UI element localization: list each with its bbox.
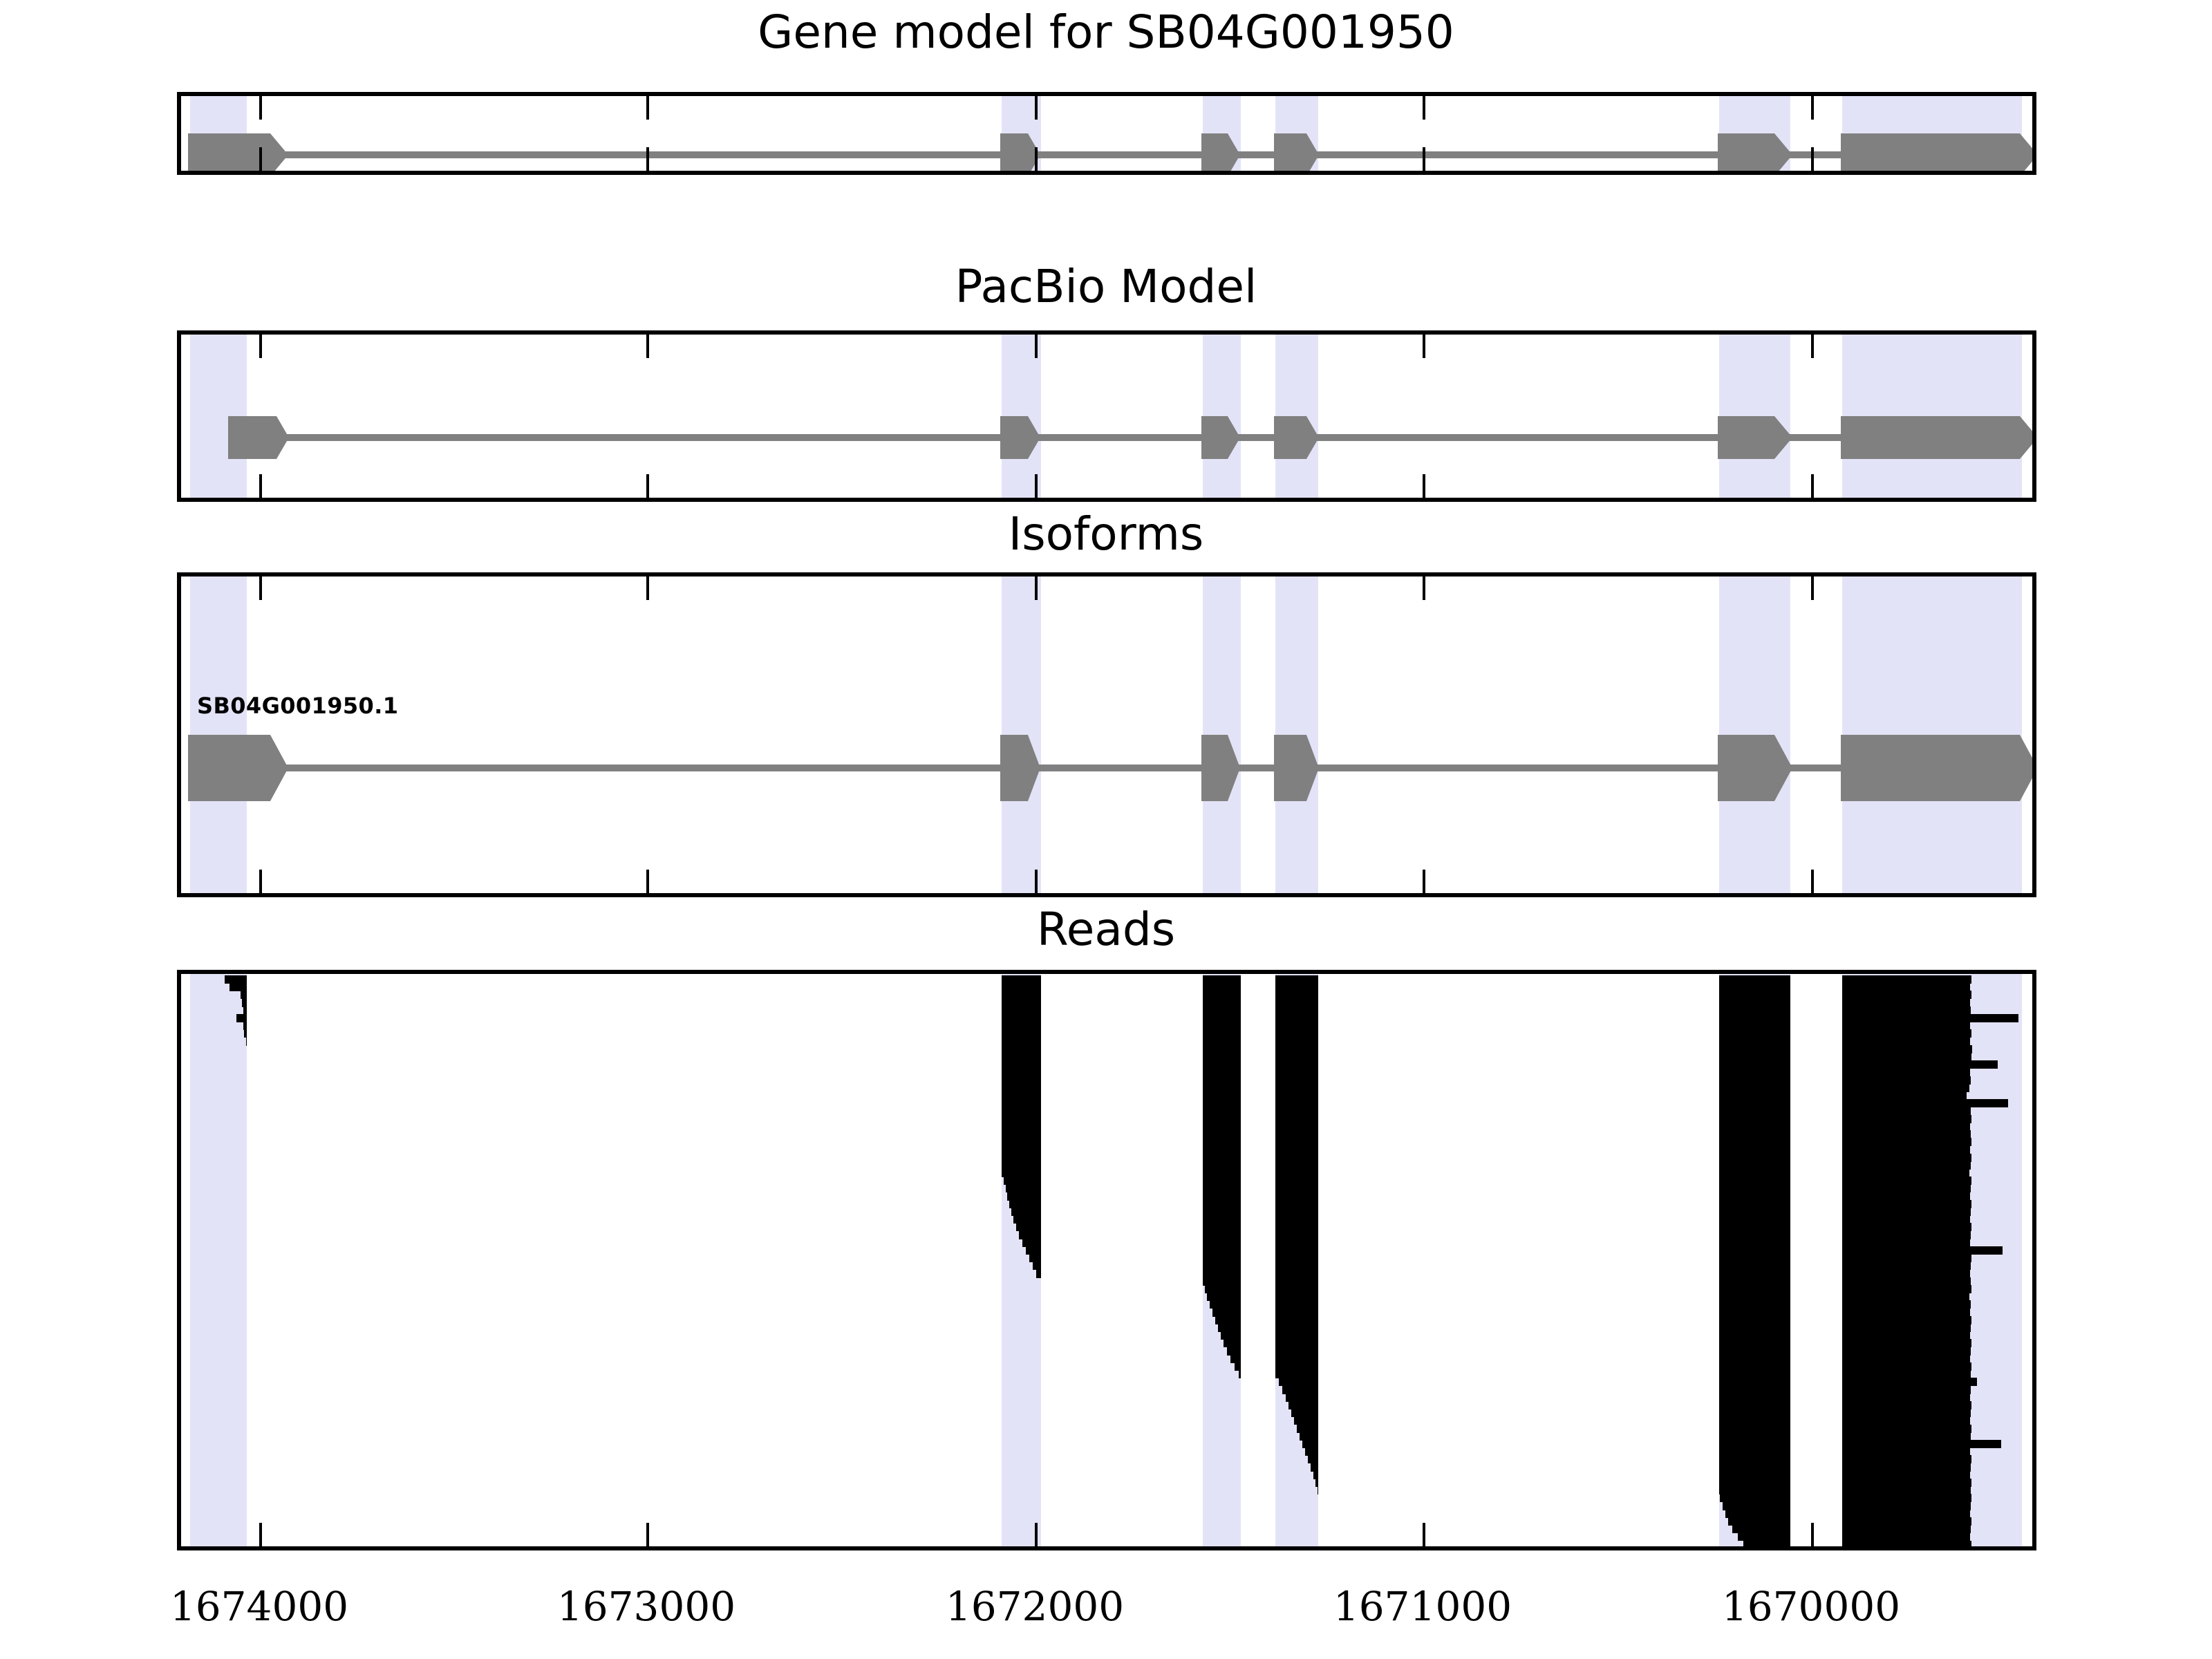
read-56-segment-3[interactable] <box>1842 1401 1971 1409</box>
read-40-segment-4[interactable] <box>1842 1277 1971 1286</box>
read-39-segment-5[interactable] <box>1842 1270 1970 1278</box>
read-32-segment-1[interactable] <box>1013 1215 1041 1224</box>
read-28-segment-2[interactable] <box>1203 1184 1241 1192</box>
gene-model-exon-6[interactable] <box>1841 133 2036 175</box>
read-32-segment-5[interactable] <box>1842 1215 1970 1224</box>
read-40-segment-1[interactable] <box>1203 1277 1241 1286</box>
gene-model-exon-1[interactable] <box>188 133 288 175</box>
read-17-segment-2[interactable] <box>1203 1099 1241 1107</box>
read-12-segment-5[interactable] <box>1842 1060 1998 1069</box>
read-23-segment-2[interactable] <box>1203 1145 1241 1154</box>
read-18-segment-2[interactable] <box>1203 1107 1241 1115</box>
read-58-segment-1[interactable] <box>1294 1416 1318 1425</box>
pacbio-model-axes[interactable] <box>177 330 2036 502</box>
read-3-segment-6[interactable] <box>1842 991 1971 999</box>
read-3-segment-1[interactable] <box>241 991 247 999</box>
read-38-segment-4[interactable] <box>1719 1262 1790 1270</box>
read-32-segment-2[interactable] <box>1203 1215 1241 1224</box>
read-29-segment-5[interactable] <box>1842 1192 1970 1201</box>
read-39-segment-2[interactable] <box>1203 1270 1241 1278</box>
read-1-segment-6[interactable] <box>1842 975 1971 984</box>
read-37-segment-4[interactable] <box>1719 1254 1790 1262</box>
read-21-segment-2[interactable] <box>1203 1130 1241 1138</box>
read-41-segment-2[interactable] <box>1275 1285 1318 1293</box>
read-23-segment-3[interactable] <box>1275 1145 1318 1154</box>
isoform-1-exon-3[interactable] <box>1201 735 1240 801</box>
read-51-segment-2[interactable] <box>1275 1362 1318 1371</box>
read-25-segment-5[interactable] <box>1842 1161 1971 1170</box>
read-41-segment-1[interactable] <box>1205 1285 1241 1293</box>
read-16-segment-2[interactable] <box>1203 1091 1241 1100</box>
read-23-segment-5[interactable] <box>1842 1145 1970 1154</box>
read-24-segment-4[interactable] <box>1719 1154 1790 1162</box>
read-27-segment-4[interactable] <box>1719 1177 1790 1185</box>
read-75-segment-2[interactable] <box>1842 1548 1971 1550</box>
read-55-segment-2[interactable] <box>1719 1394 1790 1402</box>
read-5-segment-6[interactable] <box>1842 1006 1971 1015</box>
read-14-segment-1[interactable] <box>1002 1076 1041 1085</box>
read-62-segment-3[interactable] <box>1842 1447 1970 1456</box>
read-66-segment-1[interactable] <box>1315 1479 1318 1487</box>
read-31-segment-4[interactable] <box>1719 1208 1790 1216</box>
read-31-segment-3[interactable] <box>1275 1208 1318 1216</box>
read-72-segment-2[interactable] <box>1842 1525 1971 1533</box>
read-50-segment-3[interactable] <box>1719 1355 1790 1363</box>
read-61-segment-1[interactable] <box>1302 1440 1318 1448</box>
read-64-segment-1[interactable] <box>1311 1463 1318 1472</box>
pacbio-model-exon-3[interactable] <box>1201 416 1240 459</box>
read-34-segment-2[interactable] <box>1203 1231 1241 1239</box>
read-40-segment-2[interactable] <box>1275 1277 1318 1286</box>
read-52-segment-1[interactable] <box>1239 1370 1241 1378</box>
read-44-segment-3[interactable] <box>1719 1309 1790 1317</box>
read-26-segment-4[interactable] <box>1719 1169 1790 1177</box>
read-30-segment-4[interactable] <box>1719 1200 1790 1208</box>
read-16-segment-1[interactable] <box>1002 1091 1041 1100</box>
read-20-segment-2[interactable] <box>1203 1123 1241 1131</box>
read-46-segment-1[interactable] <box>1218 1324 1241 1332</box>
read-36-segment-5[interactable] <box>1842 1246 2003 1255</box>
read-30-segment-3[interactable] <box>1275 1200 1318 1208</box>
read-20-segment-1[interactable] <box>1002 1123 1041 1131</box>
gene-model-transcript[interactable] <box>181 133 2032 175</box>
read-35-segment-1[interactable] <box>1022 1239 1041 1247</box>
read-5-segment-1[interactable] <box>243 1006 247 1015</box>
read-70-segment-2[interactable] <box>1842 1510 1970 1518</box>
read-48-segment-2[interactable] <box>1275 1339 1318 1347</box>
read-52-segment-3[interactable] <box>1719 1370 1790 1378</box>
read-51-segment-4[interactable] <box>1842 1362 1971 1371</box>
read-19-segment-3[interactable] <box>1275 1115 1318 1123</box>
read-27-segment-3[interactable] <box>1275 1177 1318 1185</box>
pacbio-model-exon-5[interactable] <box>1718 416 1792 459</box>
read-16-segment-3[interactable] <box>1275 1091 1318 1100</box>
read-42-segment-1[interactable] <box>1207 1293 1241 1301</box>
read-29-segment-1[interactable] <box>1007 1192 1041 1201</box>
read-70-segment-1[interactable] <box>1725 1510 1790 1518</box>
read-17-segment-4[interactable] <box>1719 1099 1790 1107</box>
read-22-segment-3[interactable] <box>1275 1138 1318 1146</box>
read-53-segment-3[interactable] <box>1842 1378 1977 1386</box>
read-74-segment-1[interactable] <box>1743 1541 1790 1549</box>
read-14-segment-2[interactable] <box>1203 1076 1241 1085</box>
read-64-segment-3[interactable] <box>1842 1463 1971 1472</box>
read-19-segment-4[interactable] <box>1719 1115 1790 1123</box>
read-5-segment-3[interactable] <box>1203 1006 1241 1015</box>
read-7-segment-2[interactable] <box>1002 1022 1041 1030</box>
read-33-segment-4[interactable] <box>1719 1223 1790 1231</box>
read-58-segment-3[interactable] <box>1842 1416 1970 1425</box>
read-7-segment-3[interactable] <box>1203 1022 1241 1030</box>
read-57-segment-1[interactable] <box>1291 1409 1318 1417</box>
read-21-segment-4[interactable] <box>1719 1130 1790 1138</box>
read-13-segment-4[interactable] <box>1719 1068 1790 1076</box>
read-75-segment-1[interactable] <box>1749 1548 1790 1550</box>
read-53-segment-1[interactable] <box>1279 1378 1318 1386</box>
read-11-segment-3[interactable] <box>1275 1053 1318 1061</box>
read-3-segment-5[interactable] <box>1719 991 1790 999</box>
read-57-segment-2[interactable] <box>1719 1409 1790 1417</box>
read-13-segment-3[interactable] <box>1275 1068 1318 1076</box>
read-71-segment-2[interactable] <box>1842 1517 1971 1526</box>
read-12-segment-2[interactable] <box>1203 1060 1241 1069</box>
read-52-segment-4[interactable] <box>1842 1370 1971 1378</box>
read-10-segment-3[interactable] <box>1275 1045 1318 1053</box>
read-11-segment-1[interactable] <box>1002 1053 1041 1061</box>
read-37-segment-2[interactable] <box>1203 1254 1241 1262</box>
read-65-segment-3[interactable] <box>1842 1471 1970 1479</box>
read-36-segment-1[interactable] <box>1026 1246 1041 1255</box>
read-10-segment-4[interactable] <box>1719 1045 1790 1053</box>
read-4-segment-5[interactable] <box>1719 999 1790 1007</box>
isoform-1-exon-4[interactable] <box>1274 735 1319 801</box>
read-4-segment-4[interactable] <box>1275 999 1318 1007</box>
read-63-segment-2[interactable] <box>1719 1455 1790 1463</box>
isoform-1-transcript[interactable] <box>181 735 2032 801</box>
read-48-segment-4[interactable] <box>1842 1339 1971 1347</box>
read-10-segment-5[interactable] <box>1842 1045 1972 1053</box>
read-1-segment-3[interactable] <box>1203 975 1241 984</box>
read-9-segment-3[interactable] <box>1203 1038 1241 1046</box>
read-32-segment-3[interactable] <box>1275 1215 1318 1224</box>
read-53-segment-2[interactable] <box>1719 1378 1790 1386</box>
read-42-segment-4[interactable] <box>1842 1293 1969 1301</box>
read-3-segment-4[interactable] <box>1275 991 1318 999</box>
read-39-segment-4[interactable] <box>1719 1270 1790 1278</box>
read-33-segment-2[interactable] <box>1203 1223 1241 1231</box>
read-49-segment-4[interactable] <box>1842 1347 1971 1356</box>
read-35-segment-2[interactable] <box>1203 1239 1241 1247</box>
read-41-segment-4[interactable] <box>1842 1285 1971 1293</box>
read-36-segment-4[interactable] <box>1719 1246 1790 1255</box>
read-69-segment-2[interactable] <box>1842 1502 1971 1510</box>
read-23-segment-4[interactable] <box>1719 1145 1790 1154</box>
read-60-segment-2[interactable] <box>1719 1432 1790 1441</box>
read-38-segment-1[interactable] <box>1033 1262 1041 1270</box>
read-4-segment-3[interactable] <box>1203 999 1241 1007</box>
read-5-segment-5[interactable] <box>1719 1006 1790 1015</box>
read-17-segment-5[interactable] <box>1842 1099 2008 1107</box>
read-73-segment-2[interactable] <box>1842 1533 1970 1541</box>
read-7-segment-5[interactable] <box>1719 1022 1790 1030</box>
reads-axes[interactable] <box>177 970 2036 1550</box>
read-51-segment-1[interactable] <box>1235 1362 1241 1371</box>
read-18-segment-3[interactable] <box>1275 1107 1318 1115</box>
read-15-segment-1[interactable] <box>1002 1084 1041 1092</box>
read-22-segment-1[interactable] <box>1002 1138 1041 1146</box>
read-29-segment-4[interactable] <box>1719 1192 1790 1201</box>
read-18-segment-4[interactable] <box>1719 1107 1790 1115</box>
read-18-segment-1[interactable] <box>1002 1107 1041 1115</box>
read-54-segment-3[interactable] <box>1842 1386 1971 1394</box>
read-59-segment-2[interactable] <box>1719 1425 1790 1433</box>
read-67-segment-3[interactable] <box>1842 1486 1971 1494</box>
isoform-1-exon-2[interactable] <box>1000 735 1040 801</box>
read-3-segment-2[interactable] <box>1002 991 1041 999</box>
read-69-segment-1[interactable] <box>1723 1502 1790 1510</box>
read-2-segment-1[interactable] <box>229 983 247 991</box>
read-28-segment-1[interactable] <box>1006 1184 1041 1192</box>
read-48-segment-1[interactable] <box>1224 1339 1241 1347</box>
read-27-segment-1[interactable] <box>1004 1177 1041 1185</box>
read-42-segment-3[interactable] <box>1719 1293 1790 1301</box>
read-24-segment-2[interactable] <box>1203 1154 1241 1162</box>
read-25-segment-3[interactable] <box>1275 1161 1318 1170</box>
read-59-segment-1[interactable] <box>1297 1425 1318 1433</box>
read-34-segment-1[interactable] <box>1019 1231 1041 1239</box>
read-2-segment-2[interactable] <box>1002 983 1041 991</box>
read-36-segment-3[interactable] <box>1275 1246 1318 1255</box>
read-65-segment-1[interactable] <box>1313 1471 1318 1479</box>
read-49-segment-2[interactable] <box>1275 1347 1318 1356</box>
read-72-segment-1[interactable] <box>1732 1525 1790 1533</box>
read-45-segment-3[interactable] <box>1719 1316 1790 1324</box>
read-1-segment-5[interactable] <box>1719 975 1790 984</box>
read-37-segment-1[interactable] <box>1029 1254 1041 1262</box>
pacbio-model-exon-6[interactable] <box>1841 416 2036 459</box>
read-27-segment-2[interactable] <box>1203 1177 1241 1185</box>
read-32-segment-4[interactable] <box>1719 1215 1790 1224</box>
read-37-segment-3[interactable] <box>1275 1254 1318 1262</box>
read-9-segment-6[interactable] <box>1842 1038 1970 1046</box>
read-45-segment-2[interactable] <box>1275 1316 1318 1324</box>
read-2-segment-3[interactable] <box>1203 983 1241 991</box>
read-33-segment-1[interactable] <box>1016 1223 1041 1231</box>
isoform-1-exon-1[interactable] <box>188 735 288 801</box>
read-8-segment-2[interactable] <box>1002 1029 1041 1038</box>
read-47-segment-4[interactable] <box>1842 1331 1970 1340</box>
read-13-segment-2[interactable] <box>1203 1068 1241 1076</box>
read-20-segment-4[interactable] <box>1719 1123 1790 1131</box>
read-47-segment-2[interactable] <box>1275 1331 1318 1340</box>
read-68-segment-1[interactable] <box>1720 1494 1790 1502</box>
read-44-segment-4[interactable] <box>1842 1309 1970 1317</box>
read-28-segment-3[interactable] <box>1275 1184 1318 1192</box>
gene-model-exon-3[interactable] <box>1201 133 1240 175</box>
read-19-segment-5[interactable] <box>1842 1115 1971 1123</box>
pacbio-model-exon-1[interactable] <box>228 416 289 459</box>
read-16-segment-5[interactable] <box>1842 1091 1967 1100</box>
read-11-segment-2[interactable] <box>1203 1053 1241 1061</box>
read-67-segment-1[interactable] <box>1318 1486 1318 1494</box>
read-8-segment-6[interactable] <box>1842 1029 1971 1038</box>
read-30-segment-2[interactable] <box>1203 1200 1241 1208</box>
read-15-segment-5[interactable] <box>1842 1084 1969 1092</box>
read-33-segment-5[interactable] <box>1842 1223 1971 1231</box>
isoform-1-exon-5[interactable] <box>1718 735 1792 801</box>
read-47-segment-3[interactable] <box>1719 1331 1790 1340</box>
read-44-segment-2[interactable] <box>1275 1309 1318 1317</box>
read-62-segment-2[interactable] <box>1719 1447 1790 1456</box>
read-50-segment-4[interactable] <box>1842 1355 1970 1363</box>
read-35-segment-4[interactable] <box>1719 1239 1790 1247</box>
read-49-segment-3[interactable] <box>1719 1347 1790 1356</box>
read-56-segment-1[interactable] <box>1288 1401 1318 1409</box>
pacbio-model-exon-4[interactable] <box>1274 416 1319 459</box>
read-11-segment-5[interactable] <box>1842 1053 1971 1061</box>
read-26-segment-2[interactable] <box>1203 1169 1241 1177</box>
read-65-segment-2[interactable] <box>1719 1471 1790 1479</box>
pacbio-model-exon-2[interactable] <box>1000 416 1040 459</box>
read-24-segment-5[interactable] <box>1842 1154 1971 1162</box>
read-57-segment-3[interactable] <box>1842 1409 1971 1417</box>
read-21-segment-3[interactable] <box>1275 1130 1318 1138</box>
read-25-segment-2[interactable] <box>1203 1161 1241 1170</box>
read-35-segment-3[interactable] <box>1275 1239 1318 1247</box>
read-43-segment-1[interactable] <box>1210 1300 1241 1309</box>
read-61-segment-2[interactable] <box>1719 1440 1790 1448</box>
read-43-segment-2[interactable] <box>1275 1300 1318 1309</box>
read-50-segment-1[interactable] <box>1230 1355 1241 1363</box>
read-59-segment-3[interactable] <box>1842 1425 1971 1433</box>
read-9-segment-2[interactable] <box>1002 1038 1041 1046</box>
read-6-segment-2[interactable] <box>1002 1014 1041 1022</box>
read-22-segment-2[interactable] <box>1203 1138 1241 1146</box>
read-22-segment-5[interactable] <box>1842 1138 1971 1146</box>
read-44-segment-1[interactable] <box>1212 1309 1241 1317</box>
read-20-segment-5[interactable] <box>1842 1123 1970 1131</box>
read-43-segment-4[interactable] <box>1842 1300 1971 1309</box>
gene-model-exon-4[interactable] <box>1274 133 1319 175</box>
read-27-segment-5[interactable] <box>1842 1177 1971 1185</box>
read-28-segment-5[interactable] <box>1842 1184 1971 1192</box>
read-46-segment-3[interactable] <box>1719 1324 1790 1332</box>
read-18-segment-5[interactable] <box>1842 1107 1971 1115</box>
read-9-segment-5[interactable] <box>1719 1038 1790 1046</box>
read-16-segment-4[interactable] <box>1719 1091 1790 1100</box>
read-15-segment-3[interactable] <box>1275 1084 1318 1092</box>
read-66-segment-2[interactable] <box>1719 1479 1790 1487</box>
read-46-segment-4[interactable] <box>1842 1324 1971 1332</box>
read-26-segment-3[interactable] <box>1275 1169 1318 1177</box>
read-21-segment-5[interactable] <box>1842 1130 1971 1138</box>
read-6-segment-3[interactable] <box>1203 1014 1241 1022</box>
read-38-segment-3[interactable] <box>1275 1262 1318 1270</box>
read-40-segment-3[interactable] <box>1719 1277 1790 1286</box>
read-45-segment-4[interactable] <box>1842 1316 1971 1324</box>
read-28-segment-4[interactable] <box>1719 1184 1790 1192</box>
read-61-segment-3[interactable] <box>1842 1440 2001 1448</box>
read-15-segment-2[interactable] <box>1203 1084 1241 1092</box>
read-6-segment-6[interactable] <box>1842 1014 2018 1022</box>
read-19-segment-1[interactable] <box>1002 1115 1041 1123</box>
read-38-segment-2[interactable] <box>1203 1262 1241 1270</box>
read-73-segment-1[interactable] <box>1738 1533 1790 1541</box>
read-63-segment-3[interactable] <box>1842 1455 1971 1463</box>
read-54-segment-1[interactable] <box>1282 1386 1318 1394</box>
read-6-segment-1[interactable] <box>236 1014 247 1022</box>
read-23-segment-1[interactable] <box>1002 1145 1041 1154</box>
read-48-segment-3[interactable] <box>1719 1339 1790 1347</box>
read-4-segment-2[interactable] <box>1002 999 1041 1007</box>
read-26-segment-1[interactable] <box>1002 1169 1041 1177</box>
read-12-segment-4[interactable] <box>1719 1060 1790 1069</box>
read-26-segment-5[interactable] <box>1842 1169 1969 1177</box>
read-58-segment-2[interactable] <box>1719 1416 1790 1425</box>
read-63-segment-1[interactable] <box>1308 1455 1318 1463</box>
read-8-segment-5[interactable] <box>1719 1029 1790 1038</box>
read-21-segment-1[interactable] <box>1002 1130 1041 1138</box>
read-68-segment-2[interactable] <box>1842 1494 1971 1502</box>
read-4-segment-6[interactable] <box>1842 999 1970 1007</box>
read-7-segment-1[interactable] <box>243 1022 247 1030</box>
read-14-segment-3[interactable] <box>1275 1076 1318 1085</box>
read-13-segment-5[interactable] <box>1842 1068 1970 1076</box>
read-15-segment-4[interactable] <box>1719 1084 1790 1092</box>
read-2-segment-4[interactable] <box>1275 983 1318 991</box>
read-55-segment-1[interactable] <box>1286 1394 1318 1402</box>
read-71-segment-1[interactable] <box>1728 1517 1790 1526</box>
read-31-segment-5[interactable] <box>1842 1208 1971 1216</box>
read-38-segment-5[interactable] <box>1842 1262 1971 1270</box>
read-25-segment-4[interactable] <box>1719 1161 1790 1170</box>
read-56-segment-2[interactable] <box>1719 1401 1790 1409</box>
read-12-segment-3[interactable] <box>1275 1060 1318 1069</box>
read-30-segment-1[interactable] <box>1009 1200 1041 1208</box>
read-62-segment-1[interactable] <box>1305 1447 1318 1456</box>
read-35-segment-5[interactable] <box>1842 1239 1970 1247</box>
read-13-segment-1[interactable] <box>1002 1068 1041 1076</box>
read-1-segment-4[interactable] <box>1275 975 1318 984</box>
read-39-segment-1[interactable] <box>1036 1270 1041 1278</box>
read-4-segment-1[interactable] <box>242 999 247 1007</box>
read-8-segment-4[interactable] <box>1275 1029 1318 1038</box>
isoforms-axes[interactable]: SB04G001950.1 <box>177 572 2036 897</box>
pacbio-model-transcript[interactable] <box>181 416 2032 459</box>
read-42-segment-2[interactable] <box>1275 1293 1318 1301</box>
read-14-segment-4[interactable] <box>1719 1076 1790 1085</box>
read-52-segment-2[interactable] <box>1275 1370 1318 1378</box>
read-55-segment-3[interactable] <box>1842 1394 1970 1402</box>
read-74-segment-2[interactable] <box>1842 1541 1971 1549</box>
isoform-1-exon-6[interactable] <box>1841 735 2036 801</box>
read-12-segment-1[interactable] <box>1002 1060 1041 1069</box>
read-11-segment-4[interactable] <box>1719 1053 1790 1061</box>
read-10-segment-2[interactable] <box>1203 1045 1241 1053</box>
read-17-segment-1[interactable] <box>1002 1099 1041 1107</box>
read-8-segment-3[interactable] <box>1203 1029 1241 1038</box>
read-67-segment-2[interactable] <box>1719 1486 1790 1494</box>
read-7-segment-6[interactable] <box>1842 1022 1970 1030</box>
read-34-segment-5[interactable] <box>1842 1231 1971 1239</box>
read-30-segment-5[interactable] <box>1842 1200 1971 1208</box>
read-1-segment-2[interactable] <box>1002 975 1041 984</box>
gene-model-exon-5[interactable] <box>1718 133 1792 175</box>
read-24-segment-3[interactable] <box>1275 1154 1318 1162</box>
read-5-segment-4[interactable] <box>1275 1006 1318 1015</box>
read-6-segment-5[interactable] <box>1719 1014 1790 1022</box>
read-43-segment-3[interactable] <box>1719 1300 1790 1309</box>
